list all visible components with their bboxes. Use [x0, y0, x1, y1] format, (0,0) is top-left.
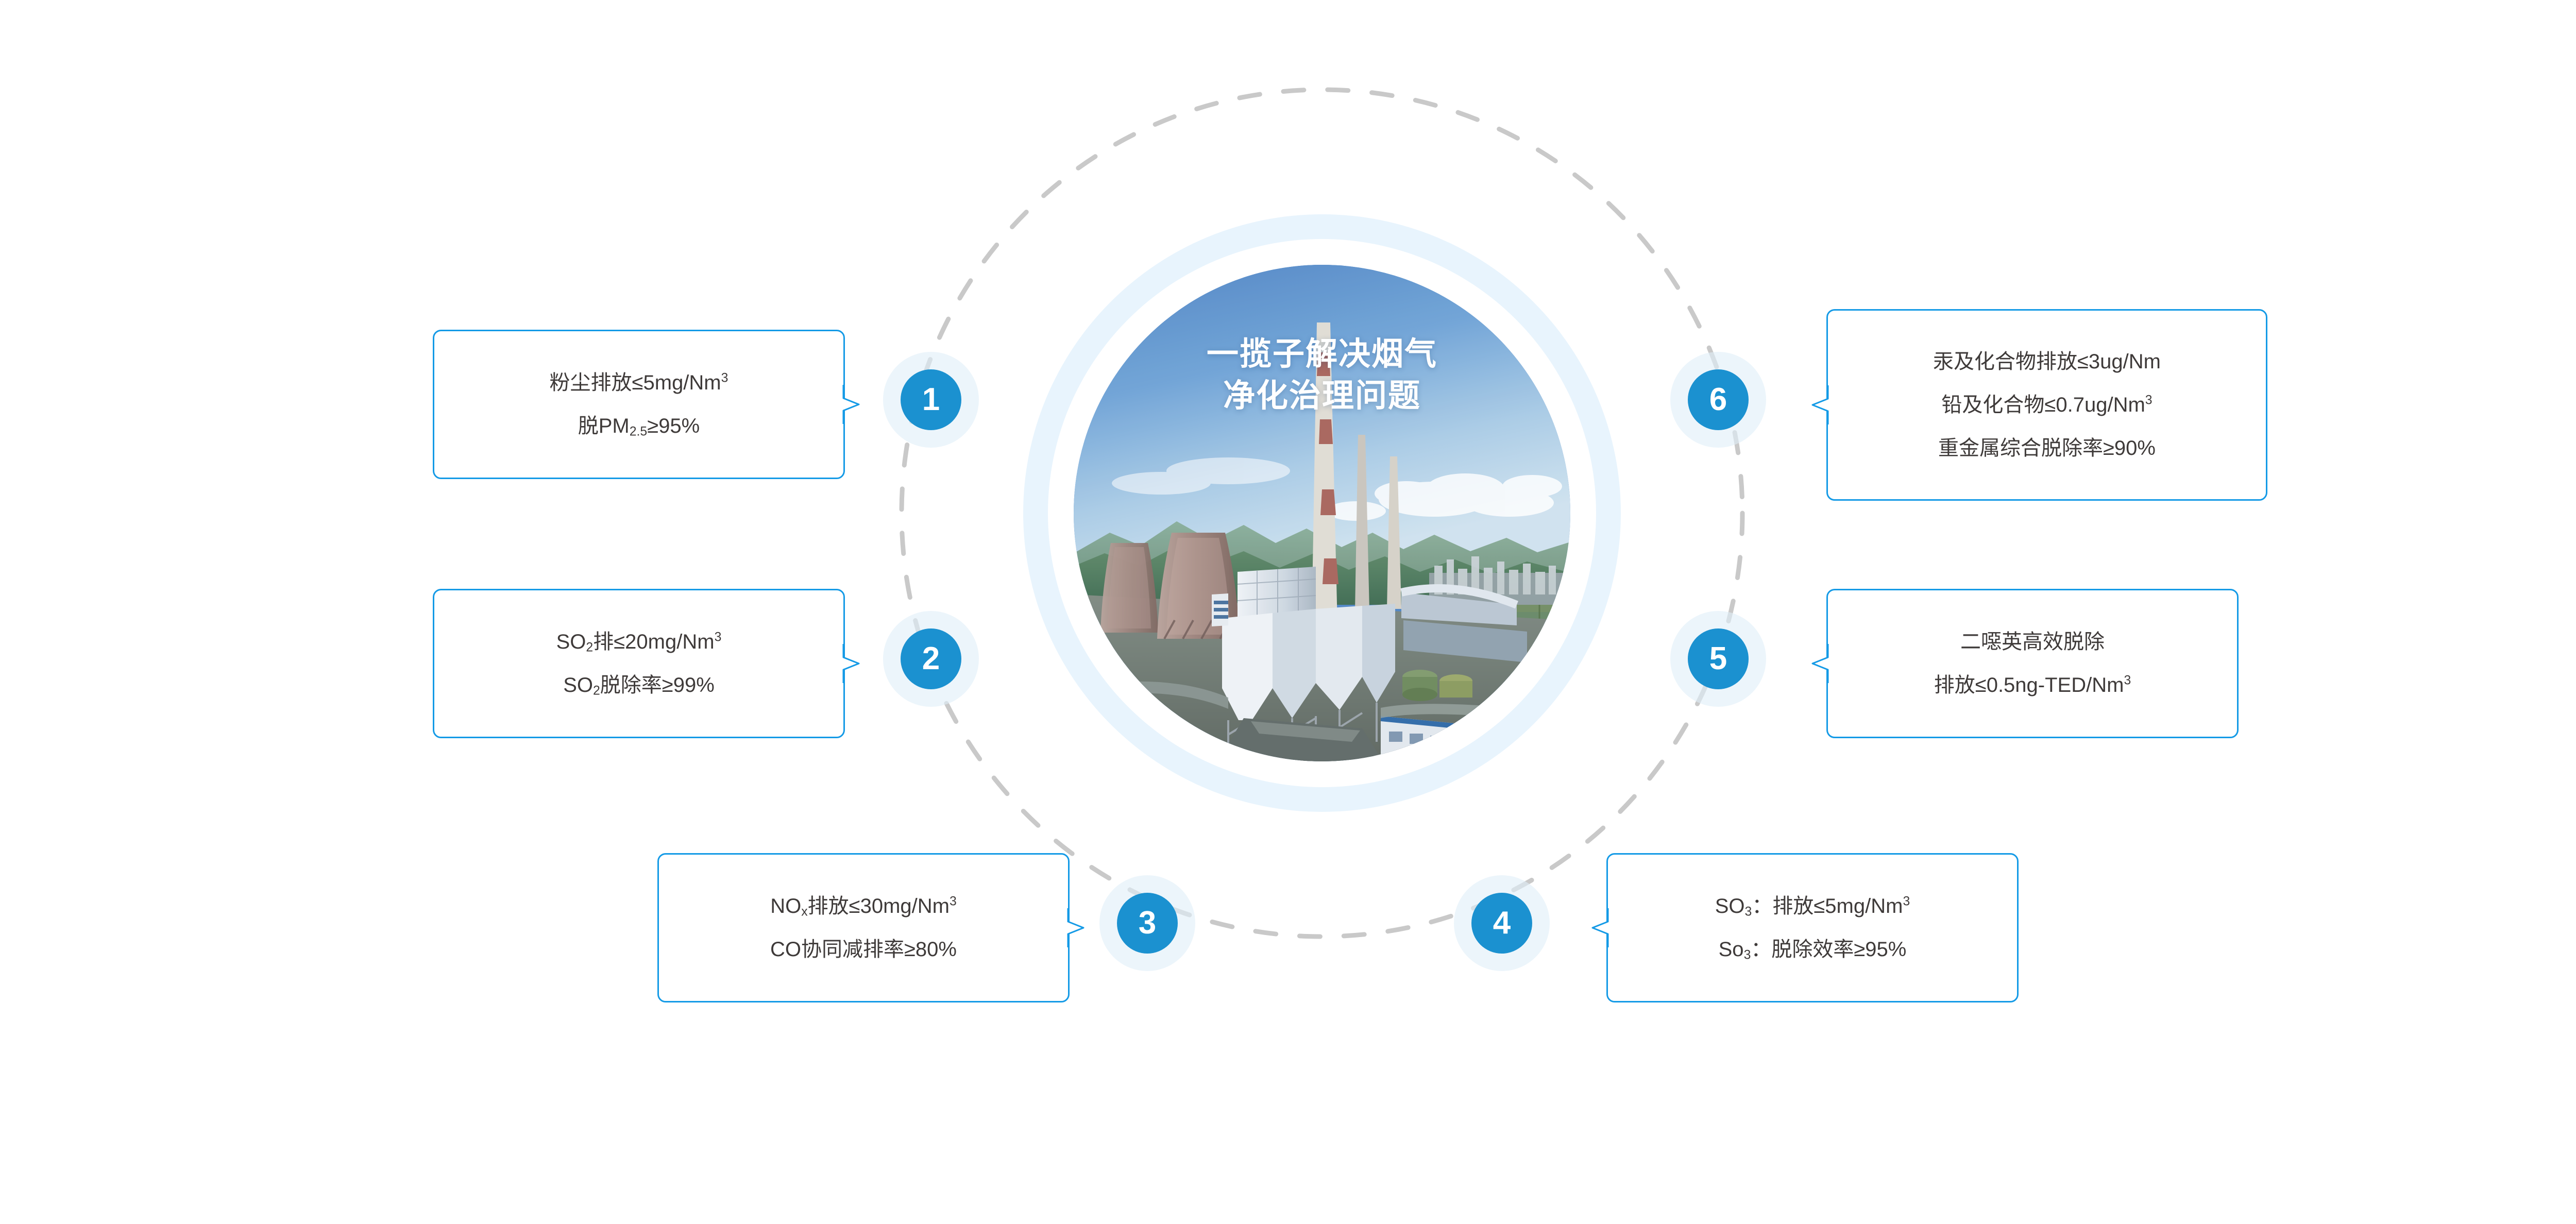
- card-1-notch: [843, 385, 861, 424]
- card-2-line-2: SO2脱除率≥99%: [458, 675, 820, 695]
- badge-1[interactable]: 1: [901, 369, 961, 430]
- infographic-canvas: 一揽子解决烟气 净化治理问题 1 2 3 4 5 6 粉尘排放≤5mg/Nm3 …: [0, 0, 2576, 1224]
- badge-5-number: 5: [1709, 643, 1727, 675]
- badge-1-number: 1: [922, 384, 940, 416]
- badge-3[interactable]: 3: [1117, 893, 1178, 954]
- card-2-notch: [843, 644, 861, 683]
- card-6-line-2: 铅及化合物≤0.7ug/Nm3: [1852, 395, 2242, 415]
- card-6-line-3: 重金属综合脱除率≥90%: [1852, 438, 2242, 458]
- card-5-line-2: 排放≤0.5ng-TED/Nm3: [1852, 675, 2213, 695]
- card-2-line-1: SO2排≤20mg/Nm3: [458, 632, 820, 652]
- center-circle: 一揽子解决烟气 净化治理问题: [1023, 214, 1621, 812]
- badge-3-number: 3: [1139, 907, 1156, 939]
- card-6-notch: [1810, 385, 1828, 424]
- card-3-line-1: NOx排放≤30mg/Nm3: [683, 896, 1044, 916]
- info-card-1[interactable]: 粉尘排放≤5mg/Nm3 脱PM2.5≥95%: [433, 330, 845, 479]
- card-3-line-2: CO协同减排率≥80%: [683, 939, 1044, 960]
- badge-6[interactable]: 6: [1688, 369, 1749, 430]
- card-3-notch: [1068, 908, 1086, 947]
- info-card-2[interactable]: SO2排≤20mg/Nm3 SO2脱除率≥99%: [433, 589, 845, 738]
- card-5-notch: [1810, 644, 1828, 683]
- card-6-line-1: 汞及化合物排放≤3ug/Nm: [1852, 351, 2242, 372]
- card-5-line-1: 二噁英高效脱除: [1852, 632, 2213, 652]
- badge-6-number: 6: [1709, 384, 1727, 416]
- info-card-5[interactable]: 二噁英高效脱除 排放≤0.5ng-TED/Nm3: [1826, 589, 2239, 738]
- center-title-line-1: 一揽子解决烟气: [1023, 334, 1621, 376]
- card-4-line-2: So3：脱除效率≥95%: [1632, 939, 1993, 960]
- info-card-4[interactable]: SO3：排放≤5mg/Nm3 So3：脱除效率≥95%: [1606, 853, 2019, 1002]
- badge-4[interactable]: 4: [1471, 893, 1532, 954]
- card-1-line-2: 脱PM2.5≥95%: [458, 416, 820, 436]
- card-4-line-1: SO3：排放≤5mg/Nm3: [1632, 896, 1993, 916]
- center-title: 一揽子解决烟气 净化治理问题: [1023, 334, 1621, 417]
- center-title-line-2: 净化治理问题: [1023, 376, 1621, 417]
- card-1-line-1: 粉尘排放≤5mg/Nm3: [458, 372, 820, 393]
- badge-2-number: 2: [922, 643, 940, 675]
- card-4-notch: [1590, 908, 1608, 947]
- badge-2[interactable]: 2: [901, 628, 961, 689]
- badge-5[interactable]: 5: [1688, 628, 1749, 689]
- info-card-3[interactable]: NOx排放≤30mg/Nm3 CO协同减排率≥80%: [657, 853, 1070, 1002]
- info-card-6[interactable]: 汞及化合物排放≤3ug/Nm 铅及化合物≤0.7ug/Nm3 重金属综合脱除率≥…: [1826, 309, 2267, 501]
- badge-4-number: 4: [1493, 907, 1511, 939]
